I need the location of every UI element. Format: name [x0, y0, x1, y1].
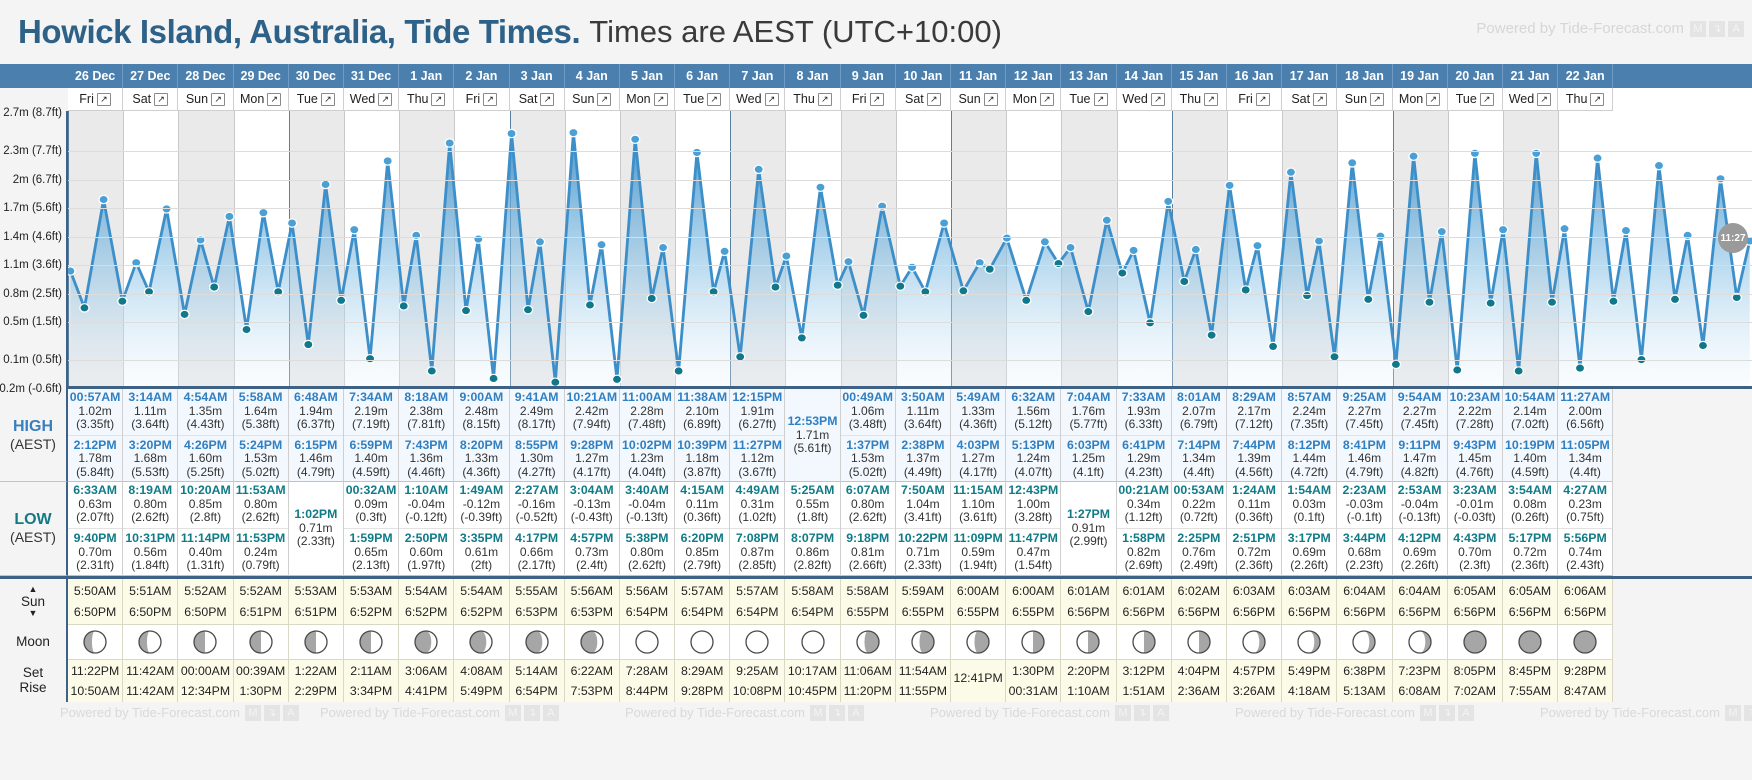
low-tide-time: 3:44PM [1343, 532, 1386, 546]
sunset-time: 6:51PM [295, 605, 337, 619]
low-tide-cell-27[interactable]: 4:27AM0.23m(0.75ft)5:56PM0.74m(2.43ft) [1558, 482, 1613, 575]
high-tide-height-m: 2.49m [520, 405, 553, 418]
date-header-11[interactable]: 6 Jan [675, 64, 730, 88]
expand-icon[interactable]: ↗ [97, 93, 111, 106]
low-tide-cell-19[interactable]: 00:21AM0.34m(1.12ft)1:58PM0.82m(2.69ft) [1117, 482, 1172, 575]
date-header-12[interactable]: 7 Jan [730, 64, 785, 88]
weekday-header-10[interactable]: Mon↗ [620, 88, 675, 111]
low-tide-cell-26[interactable]: 3:54AM0.08m(0.26ft)5:17PM0.72m(2.36ft) [1503, 482, 1558, 575]
low-tide-time: 00:32AM [346, 484, 397, 498]
date-header-10[interactable]: 5 Jan [620, 64, 675, 88]
high-tide-cell-27[interactable]: 11:27AM2.00m(6.56ft)11:05PM1.34m(4.4ft) [1558, 389, 1613, 482]
low-tide-cell-12[interactable]: 4:49AM0.31m(1.02ft)7:08PM0.87m(2.85ft) [730, 482, 785, 575]
low-tide-cell-16[interactable]: 11:15AM1.10m(3.61ft)11:09PM0.59m(1.94ft) [951, 482, 1006, 575]
low-tide-row: LOW (AEST) 6:33AM0.63m(2.07ft)9:40PM0.70… [0, 482, 1752, 575]
low-tide-time: 3:17PM [1288, 532, 1331, 546]
high-tide-time: 6:03PM [1067, 439, 1110, 453]
low-tide-entry: 4:49AM0.31m(1.02ft) [730, 484, 784, 525]
expand-icon[interactable]: ↗ [1151, 93, 1165, 106]
sunrise-time: 5:56AM [571, 584, 613, 598]
weekday-text: Tue [1069, 92, 1090, 106]
high-tide-cell-14[interactable]: 00:49AM1.06m(3.48ft)1:37PM1.53m(5.02ft) [841, 389, 896, 482]
expand-icon[interactable]: ↗ [1094, 93, 1108, 106]
weekday-header-27[interactable]: Thu↗ [1558, 88, 1613, 111]
weekday-header-17[interactable]: Mon↗ [1006, 88, 1061, 111]
weekday-header-19[interactable]: Wed↗ [1117, 88, 1172, 111]
sunset-time: 6:51PM [239, 605, 281, 619]
date-header-6[interactable]: 1 Jan [399, 64, 454, 88]
high-tide-time: 00:57AM [70, 391, 121, 405]
weekday-text: Fri [79, 92, 94, 106]
weekday-header-7[interactable]: Fri↗ [454, 88, 509, 111]
weekday-header-9[interactable]: Sun↗ [565, 88, 620, 111]
moon-setrise-cell-9: 6:22AM7:53PM [565, 659, 620, 702]
expand-icon[interactable]: ↗ [378, 93, 392, 106]
low-tide-time: 10:22PM [898, 532, 948, 546]
expand-icon[interactable]: ↗ [1256, 93, 1270, 106]
low-tide-cell-9[interactable]: 3:04AM-0.13m(-0.43ft)4:57PM0.73m(2.4ft) [565, 482, 620, 575]
high-tide-entry: 10:23AM2.22m(7.28ft) [1448, 391, 1502, 432]
low-tide-cell-7[interactable]: 1:49AM-0.12m(-0.39ft)3:35PM0.61m(2ft) [454, 482, 509, 575]
date-header-27[interactable]: 22 Jan [1558, 64, 1613, 88]
low-tide-time: 3:54AM [1508, 484, 1552, 498]
weekday-header-3[interactable]: Mon↗ [234, 88, 289, 111]
low-tide-height-m: 0.61m [465, 546, 498, 559]
powered-by-badges: M ↴ A [1690, 21, 1744, 37]
low-tide-cell-22[interactable]: 1:54AM0.03m(0.1ft)3:17PM0.69m(2.26ft) [1282, 482, 1337, 575]
high-tide-height-m: 1.40m [1513, 452, 1546, 465]
date-header-7[interactable]: 2 Jan [454, 64, 509, 88]
weekday-header-14[interactable]: Fri↗ [841, 88, 896, 111]
high-tide-cell-8[interactable]: 9:41AM2.49m(8.17ft)8:55PM1.30m(4.27ft) [510, 389, 565, 482]
expand-icon[interactable]: ↗ [818, 93, 832, 106]
weekday-text: Wed [1509, 92, 1534, 106]
low-tide-cell-14[interactable]: 6:07AM0.80m(2.62ft)9:18PM0.81m(2.66ft) [841, 482, 896, 575]
sunset-time: 6:56PM [1564, 605, 1606, 619]
low-tide-entry: 4:12PM0.69m(2.26ft) [1393, 528, 1447, 573]
weekday-header-23[interactable]: Sun↗ [1337, 88, 1392, 111]
y-tick-5: 1.1m (3.6ft) [3, 259, 62, 271]
footer-watermark-2: Powered by Tide-Forecast.comM↴A [625, 705, 864, 721]
expand-icon[interactable]: ↗ [1590, 93, 1604, 106]
expand-icon[interactable]: ↗ [654, 93, 668, 106]
weekday-header-8[interactable]: Sat↗ [510, 88, 565, 111]
high-tide-entry: 11:05PM1.34m(4.4ft) [1558, 435, 1612, 480]
date-header-4[interactable]: 30 Dec [289, 64, 344, 88]
date-header-17[interactable]: 12 Jan [1006, 64, 1061, 88]
high-tide-cell-11[interactable]: 11:38AM2.10m(6.89ft)10:39PM1.18m(3.87ft) [675, 389, 730, 482]
date-header-18[interactable]: 13 Jan [1061, 64, 1116, 88]
date-header-16[interactable]: 11 Jan [951, 64, 1006, 88]
high-tide-cell-22[interactable]: 8:57AM2.24m(7.35ft)8:12PM1.44m(4.72ft) [1282, 389, 1337, 482]
expand-icon[interactable]: ↗ [1537, 93, 1551, 106]
date-header-14[interactable]: 9 Jan [841, 64, 896, 88]
high-tide-time: 4:03PM [957, 439, 1000, 453]
low-tide-cell-24[interactable]: 2:53AM-0.04m(-0.13ft)4:12PM0.69m(2.26ft) [1393, 482, 1448, 575]
low-tide-height-ft: (2.62ft) [242, 511, 280, 524]
low-tide-cell-18[interactable]: 1:27PM0.91m(2.99ft) [1061, 482, 1116, 575]
low-tide-cell-1[interactable]: 8:19AM0.80m(2.62ft)10:31PM0.56m(1.84ft) [123, 482, 178, 575]
expand-icon[interactable]: ↗ [431, 93, 445, 106]
high-tide-cell-2[interactable]: 4:54AM1.35m(4.43ft)4:26PM1.60m(5.25ft) [178, 389, 233, 482]
sunset-time: 6:55PM [1012, 605, 1054, 619]
sunrise-time: 5:56AM [626, 584, 668, 598]
high-tide-entry: 9:00AM2.48m(8.15ft) [454, 391, 508, 432]
gridline-h-1 [68, 151, 1752, 152]
date-header-22[interactable]: 17 Jan [1282, 64, 1337, 88]
sunset-time: 6:56PM [1288, 605, 1330, 619]
low-tide-height-m: -0.16m [518, 498, 555, 511]
expand-icon[interactable]: ↗ [321, 93, 335, 106]
high-tide-cell-1[interactable]: 3:14AM1.11m(3.64ft)3:20PM1.68m(5.53ft) [123, 389, 178, 482]
high-tide-entry: 00:49AM1.06m(3.48ft) [841, 391, 895, 432]
expand-icon[interactable]: ↗ [267, 93, 281, 106]
high-tide-height-m: 1.53m [244, 452, 277, 465]
low-tide-height-ft: (1.8ft) [797, 511, 828, 524]
badge-arrow-icon: ↴ [1439, 705, 1455, 721]
low-tide-cell-0[interactable]: 6:33AM0.63m(2.07ft)9:40PM0.70m(2.31ft) [68, 482, 123, 575]
sun-cell-21: 6:03AM6:56PM [1227, 579, 1282, 625]
expand-icon[interactable]: ↗ [483, 93, 497, 106]
date-header-9[interactable]: 4 Jan [565, 64, 620, 88]
weekday-text: Sun [572, 92, 594, 106]
low-tide-cell-21[interactable]: 1:24AM0.11m(0.36ft)2:51PM0.72m(2.36ft) [1227, 482, 1282, 575]
date-header-5[interactable]: 31 Dec [344, 64, 399, 88]
low-tide-height-ft: (2.33ft) [297, 535, 335, 548]
high-tide-time: 9:28PM [570, 439, 613, 453]
high-tide-entry: 9:25AM2.27m(7.45ft) [1337, 391, 1391, 432]
high-tide-cell-19[interactable]: 7:33AM1.93m(6.33ft)6:41PM1.29m(4.23ft) [1117, 389, 1172, 482]
weekday-header-18[interactable]: Tue↗ [1061, 88, 1116, 111]
weekday-header-row: Fri↗Sat↗Sun↗Mon↗Tue↗Wed↗Thu↗Fri↗Sat↗Sun↗… [0, 88, 1752, 111]
date-header-19[interactable]: 14 Jan [1117, 64, 1172, 88]
weekday-header-22[interactable]: Sat↗ [1282, 88, 1337, 111]
low-tide-time: 9:40PM [74, 532, 117, 546]
high-tide-cell-10[interactable]: 11:00AM2.28m(7.48ft)10:02PM1.23m(4.04ft) [620, 389, 675, 482]
low-tide-height-m: 0.22m [1182, 498, 1215, 511]
high-tide-height-m: 2.27m [1348, 405, 1381, 418]
high-tide-height-ft: (7.81ft) [407, 418, 445, 431]
high-tide-cell-17[interactable]: 6:32AM1.56m(5.12ft)5:13PM1.24m(4.07ft) [1006, 389, 1061, 482]
weekday-header-15[interactable]: Sat↗ [896, 88, 951, 111]
weekday-header-13[interactable]: Thu↗ [785, 88, 840, 111]
high-tide-height-m: 2.10m [685, 405, 718, 418]
date-header-23[interactable]: 18 Jan [1337, 64, 1392, 88]
moonrise-time: 1:10AM [1067, 684, 1109, 698]
high-tide-entry: 8:55PM1.30m(4.27ft) [510, 435, 564, 480]
sunrise-time: 5:53AM [350, 584, 392, 598]
moonrise-time: 7:02AM [1454, 684, 1496, 698]
expand-icon[interactable]: ↗ [540, 93, 554, 106]
sunset-time: 6:56PM [1398, 605, 1440, 619]
expand-icon[interactable]: ↗ [154, 93, 168, 106]
moon-setrise-cell-15: 11:54AM11:55PM [896, 659, 951, 702]
low-tide-cell-23[interactable]: 2:23AM-0.03m(-0.1ft)3:44PM0.68m(2.23ft) [1337, 482, 1392, 575]
high-tide-entry: 7:34AM2.19m(7.19ft) [344, 391, 398, 432]
low-tide-entry: 3:40AM-0.04m(-0.13ft) [620, 484, 674, 525]
high-tide-height-m: 1.27m [961, 452, 994, 465]
low-tide-entry: 9:18PM0.81m(2.66ft) [841, 528, 895, 573]
moonrise-time: 3:34PM [350, 684, 392, 698]
high-tide-time: 12:15PM [732, 391, 782, 405]
high-tide-entry: 12:53PM1.71m(5.61ft) [785, 415, 839, 456]
weekday-text: Tue [1456, 92, 1477, 106]
sunset-time: 6:54PM [626, 605, 668, 619]
chart-y-axis: 2.7m (8.7ft)2.3m (7.7ft)2m (6.7ft)1.7m (… [0, 111, 68, 389]
moon-setrise-cell-10: 7:28AM8:44PM [620, 659, 675, 702]
weekday-text: Wed [1122, 92, 1147, 106]
high-tide-time: 8:18AM [404, 391, 448, 405]
low-tide-entry: 3:35PM0.61m(2ft) [454, 528, 508, 573]
sunrise-time: 5:58AM [847, 584, 889, 598]
moon-phase-last-quarter [289, 625, 344, 659]
weekday-header-26[interactable]: Wed↗ [1503, 88, 1558, 111]
high-tide-cell-13[interactable]: 12:53PM1.71m(5.61ft) [785, 389, 840, 482]
high-tide-cell-25[interactable]: 10:23AM2.22m(7.28ft)9:43PM1.45m(4.76ft) [1448, 389, 1503, 482]
sunrise-time: 6:01AM [1122, 584, 1164, 598]
tide-grid: 26 Dec27 Dec28 Dec29 Dec30 Dec31 Dec1 Ja… [0, 64, 1752, 724]
badge-a-icon: A [1458, 705, 1474, 721]
low-tide-entry: 4:17PM0.66m(2.17ft) [510, 528, 564, 573]
high-tide-cell-15[interactable]: 3:50AM1.11m(3.64ft)2:38PM1.37m(4.49ft) [896, 389, 951, 482]
moonrise-time: 1:51AM [1122, 684, 1164, 698]
low-tide-entry: 3:17PM0.69m(2.26ft) [1282, 528, 1336, 573]
low-tide-cell-6[interactable]: 1:10AM-0.04m(-0.12ft)2:50PM0.60m(1.97ft) [399, 482, 454, 575]
low-tide-cell-17[interactable]: 12:43PM1.00m(3.28ft)11:47PM0.47m(1.54ft) [1006, 482, 1061, 575]
low-tide-entry: 1:59PM0.65m(2.13ft) [344, 528, 398, 573]
high-tide-cell-21[interactable]: 8:29AM2.17m(7.12ft)7:44PM1.39m(4.56ft) [1227, 389, 1282, 482]
expand-icon[interactable]: ↗ [984, 93, 998, 106]
low-tide-cell-2[interactable]: 10:20AM0.85m(2.8ft)11:14PM0.40m(1.31ft) [178, 482, 233, 575]
high-tide-time: 5:58AM [239, 391, 283, 405]
high-tide-height-m: 1.71m [796, 429, 829, 442]
high-tide-cell-26[interactable]: 10:54AM2.14m(7.02ft)10:19PM1.40m(4.59ft) [1503, 389, 1558, 482]
low-tide-entry: 5:17PM0.72m(2.36ft) [1503, 528, 1557, 573]
high-tide-height-ft: (6.37ft) [297, 418, 335, 431]
sunrise-time: 5:54AM [460, 584, 502, 598]
sun-cell-17: 6:00AM6:55PM [1006, 579, 1061, 625]
high-tide-cell-3[interactable]: 5:58AM1.64m(5.38ft)5:24PM1.53m(5.02ft) [234, 389, 289, 482]
high-tide-height-ft: (3.64ft) [131, 418, 169, 431]
weekday-header-4[interactable]: Tue↗ [289, 88, 344, 111]
expand-icon[interactable]: ↗ [1204, 93, 1218, 106]
low-tide-cell-3[interactable]: 11:53AM0.80m(2.62ft)11:53PM0.24m(0.79ft) [234, 482, 289, 575]
high-tide-cell-5[interactable]: 7:34AM2.19m(7.19ft)6:59PM1.40m(4.59ft) [344, 389, 399, 482]
expand-icon[interactable]: ↗ [597, 93, 611, 106]
high-tide-row: HIGH (AEST) 00:57AM1.02m(3.35ft)2:12PM1.… [0, 389, 1752, 482]
y-tick-4: 1.4m (4.6ft) [3, 231, 62, 243]
expand-icon[interactable]: ↗ [765, 93, 779, 106]
low-tide-entry: 11:53AM0.80m(2.62ft) [234, 484, 288, 525]
badge-m-icon: M [1115, 705, 1131, 721]
high-tide-height-m: 1.93m [1127, 405, 1160, 418]
low-tide-height-m: 0.24m [244, 546, 277, 559]
high-tide-entry: 10:21AM2.42m(7.94ft) [565, 391, 619, 432]
high-tide-cell-16[interactable]: 5:49AM1.33m(4.36ft)4:03PM1.27m(4.17ft) [951, 389, 1006, 482]
low-tide-cell-25[interactable]: 3:23AM-0.01m(-0.03ft)4:43PM0.70m(2.3ft) [1448, 482, 1503, 575]
high-tide-height-m: 1.39m [1237, 452, 1270, 465]
high-tide-height-m: 1.23m [630, 452, 663, 465]
weekday-header-1[interactable]: Sat↗ [123, 88, 178, 111]
moon-setrise-cell-19: 3:12PM1:51AM [1117, 659, 1172, 702]
high-tide-entry: 11:27PM1.12m(3.67ft) [730, 435, 784, 480]
moonset-time: 11:06AM [844, 664, 892, 678]
low-tide-time: 5:38PM [625, 532, 668, 546]
date-header-20[interactable]: 15 Jan [1172, 64, 1227, 88]
tide-chart-plot[interactable] [68, 111, 1752, 389]
low-tide-time: 3:23AM [1453, 484, 1497, 498]
weekday-header-16[interactable]: Sun↗ [951, 88, 1006, 111]
high-tide-cell-20[interactable]: 8:01AM2.07m(6.79ft)7:14PM1.34m(4.4ft) [1172, 389, 1227, 482]
expand-icon[interactable]: ↗ [211, 93, 225, 106]
moonset-time: 5:49PM [1288, 664, 1330, 678]
low-tide-cell-15[interactable]: 7:50AM1.04m(3.41ft)10:22PM0.71m(2.33ft) [896, 482, 951, 575]
high-tide-time: 4:54AM [184, 391, 228, 405]
date-row-spacer [0, 64, 68, 88]
low-tide-entry: 4:43PM0.70m(2.3ft) [1448, 528, 1502, 573]
sunset-time: 6:50PM [184, 605, 226, 619]
expand-icon[interactable]: ↗ [1313, 93, 1327, 106]
low-tide-height-m: 0.47m [1017, 546, 1050, 559]
high-tide-cell-0[interactable]: 00:57AM1.02m(3.35ft)2:12PM1.78m(5.84ft) [68, 389, 123, 482]
date-header-24[interactable]: 19 Jan [1393, 64, 1448, 88]
low-tide-height-m: 0.82m [1127, 546, 1160, 559]
date-cells: 26 Dec27 Dec28 Dec29 Dec30 Dec31 Dec1 Ja… [68, 64, 1752, 88]
date-header-8[interactable]: 3 Jan [510, 64, 565, 88]
weekday-header-0[interactable]: Fri↗ [68, 88, 123, 111]
expand-icon[interactable]: ↗ [1040, 93, 1054, 106]
low-tide-cell-11[interactable]: 4:15AM0.11m(0.36ft)6:20PM0.85m(2.79ft) [675, 482, 730, 575]
high-tide-height-m: 2.07m [1182, 405, 1215, 418]
high-tide-height-ft: (4.4ft) [1569, 466, 1600, 479]
weekday-header-5[interactable]: Wed↗ [344, 88, 399, 111]
sunset-time: 6:56PM [1343, 605, 1385, 619]
date-header-25[interactable]: 20 Jan [1448, 64, 1503, 88]
date-header-26[interactable]: 21 Jan [1503, 64, 1558, 88]
high-tide-cell-9[interactable]: 10:21AM2.42m(7.94ft)9:28PM1.27m(4.17ft) [565, 389, 620, 482]
weekday-header-12[interactable]: Wed↗ [730, 88, 785, 111]
expand-icon[interactable]: ↗ [1480, 93, 1494, 106]
low-tide-cell-8[interactable]: 2:27AM-0.16m(-0.52ft)4:17PM0.66m(2.17ft) [510, 482, 565, 575]
y-tick-6: 0.8m (2.5ft) [3, 288, 62, 300]
weekday-header-25[interactable]: Tue↗ [1448, 88, 1503, 111]
expand-icon[interactable]: ↗ [707, 93, 721, 106]
high-tide-time: 8:20PM [460, 439, 503, 453]
low-tide-height-m: 0.09m [354, 498, 387, 511]
moonrise-time: 4:18AM [1288, 684, 1330, 698]
low-tide-time: 3:04AM [570, 484, 614, 498]
low-tide-time: 1:54AM [1287, 484, 1331, 498]
badge-arrow-icon: ↴ [1709, 21, 1725, 37]
high-tide-time: 7:04AM [1067, 391, 1111, 405]
sun-cell-16: 6:00AM6:55PM [951, 579, 1006, 625]
weekday-header-2[interactable]: Sun↗ [178, 88, 233, 111]
page-subtitle: Times are AEST (UTC+10:00) [589, 14, 1002, 50]
weekday-header-21[interactable]: Fri↗ [1227, 88, 1282, 111]
expand-icon[interactable]: ↗ [870, 93, 884, 106]
weekday-header-20[interactable]: Thu↗ [1172, 88, 1227, 111]
high-tide-cell-6[interactable]: 8:18AM2.38m(7.81ft)7:43PM1.36m(4.46ft) [399, 389, 454, 482]
sun-cell-25: 6:05AM6:56PM [1448, 579, 1503, 625]
date-header-15[interactable]: 10 Jan [896, 64, 951, 88]
high-tide-time: 10:02PM [622, 439, 672, 453]
expand-icon[interactable]: ↗ [1370, 93, 1384, 106]
date-header-0[interactable]: 26 Dec [68, 64, 123, 88]
sun-cell-4: 5:53AM6:51PM [289, 579, 344, 625]
high-label-text: HIGH [13, 418, 53, 436]
low-tide-entry: 11:15AM1.10m(3.61ft) [951, 484, 1005, 525]
moonset-time: 8:05PM [1454, 664, 1496, 678]
date-header-1[interactable]: 27 Dec [123, 64, 178, 88]
date-header-3[interactable]: 29 Dec [234, 64, 289, 88]
low-tide-entry: 9:40PM0.70m(2.31ft) [68, 528, 122, 573]
low-tide-height-m: 0.70m [78, 546, 111, 559]
high-tide-cell-12[interactable]: 12:15PM1.91m(6.27ft)11:27PM1.12m(3.67ft) [730, 389, 785, 482]
date-header-21[interactable]: 16 Jan [1227, 64, 1282, 88]
weekday-header-11[interactable]: Tue↗ [675, 88, 730, 111]
weekday-header-6[interactable]: Thu↗ [399, 88, 454, 111]
high-tide-cell-23[interactable]: 9:25AM2.27m(7.45ft)8:41PM1.46m(4.79ft) [1337, 389, 1392, 482]
low-tide-entry: 4:15AM0.11m(0.36ft) [675, 484, 729, 525]
badge-arrow-icon: ↴ [1744, 705, 1752, 721]
weekday-text: Fri [852, 92, 867, 106]
low-tide-cell-4[interactable]: 1:02PM0.71m(2.33ft) [289, 482, 344, 575]
sunset-arrow-icon: ▼ [29, 609, 38, 618]
high-tide-cell-4[interactable]: 6:48AM1.94m(6.37ft)6:15PM1.46m(4.79ft) [289, 389, 344, 482]
low-tide-height-m: 1.10m [961, 498, 994, 511]
badge-m-icon: M [245, 705, 261, 721]
high-tide-time: 8:29AM [1232, 391, 1276, 405]
low-tide-height-m: 0.60m [410, 546, 443, 559]
sunrise-time: 6:04AM [1343, 584, 1385, 598]
moon-setrise-cell-6: 3:06AM4:41PM [399, 659, 454, 702]
low-tide-cell-13[interactable]: 5:25AM0.55m(1.8ft)8:07PM0.86m(2.82ft) [785, 482, 840, 575]
moonset-time: 2:20PM [1067, 664, 1109, 678]
sunset-time: 6:54PM [681, 605, 723, 619]
high-tide-cell-7[interactable]: 9:00AM2.48m(8.15ft)8:20PM1.33m(4.36ft) [454, 389, 509, 482]
low-tide-cell-20[interactable]: 00:53AM0.22m(0.72ft)2:25PM0.76m(2.49ft) [1172, 482, 1227, 575]
low-tide-height-ft: (2.66ft) [849, 559, 887, 572]
low-tide-time: 1:58PM [1122, 532, 1165, 546]
high-tide-cell-24[interactable]: 9:54AM2.27m(7.45ft)9:11PM1.47m(4.82ft) [1393, 389, 1448, 482]
sunrise-time: 6:03AM [1288, 584, 1330, 598]
low-tide-cell-10[interactable]: 3:40AM-0.04m(-0.13ft)5:38PM0.80m(2.62ft) [620, 482, 675, 575]
low-tide-height-m: 0.59m [961, 546, 994, 559]
low-tide-cell-5[interactable]: 00:32AM0.09m(0.3ft)1:59PM0.65m(2.13ft) [344, 482, 399, 575]
high-tide-height-m: 1.94m [299, 405, 332, 418]
low-tide-time: 3:40AM [625, 484, 669, 498]
sun-cell-3: 5:52AM6:51PM [234, 579, 289, 625]
moonset-time: 8:29AM [681, 664, 723, 678]
high-tide-cell-18[interactable]: 7:04AM1.76m(5.77ft)6:03PM1.25m(4.1ft) [1061, 389, 1116, 482]
high-tide-entry: 11:38AM2.10m(6.89ft) [675, 391, 729, 432]
date-header-2[interactable]: 28 Dec [178, 64, 233, 88]
low-tide-height-ft: (2.26ft) [1401, 559, 1439, 572]
sun-label: ▲ Sun ▼ [0, 579, 68, 625]
sun-cell-15: 5:59AM6:55PM [896, 579, 951, 625]
low-tide-entry: 1:27PM0.91m(2.99ft) [1061, 508, 1115, 549]
expand-icon[interactable]: ↗ [927, 93, 941, 106]
high-tide-height-ft: (7.94ft) [573, 418, 611, 431]
high-tide-height-m: 1.02m [78, 405, 111, 418]
expand-icon[interactable]: ↗ [1426, 93, 1440, 106]
weekday-header-24[interactable]: Mon↗ [1393, 88, 1448, 111]
low-tide-entry: 11:14PM0.40m(1.31ft) [178, 528, 232, 573]
date-header-13[interactable]: 8 Jan [785, 64, 840, 88]
high-tide-height-ft: (7.28ft) [1456, 418, 1494, 431]
low-tide-entry: 6:33AM0.63m(2.07ft) [68, 484, 122, 525]
high-tide-entry: 8:12PM1.44m(4.72ft) [1282, 435, 1336, 480]
